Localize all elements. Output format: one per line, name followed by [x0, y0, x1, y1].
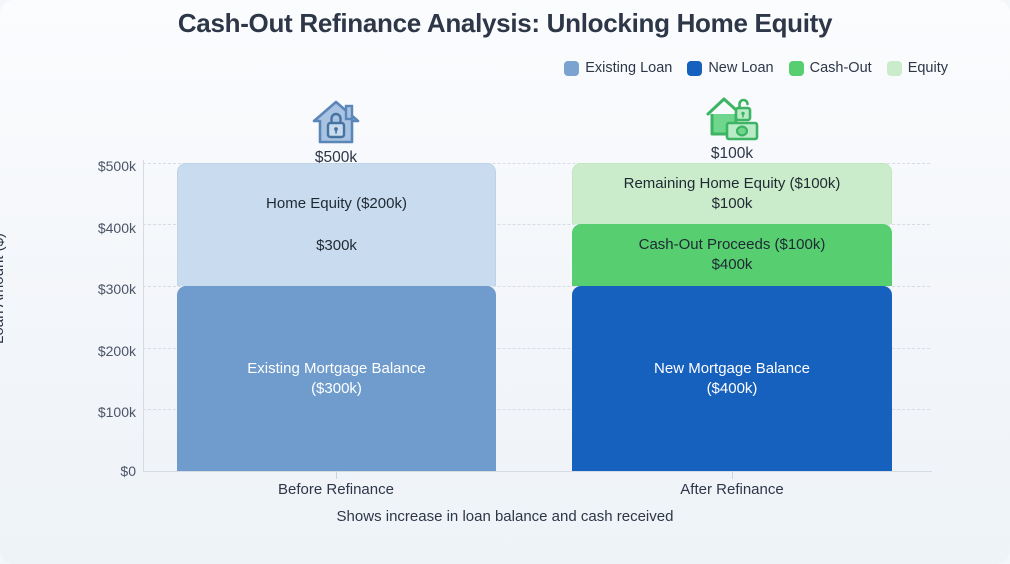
segment-existing-mortgage-balance-label: Existing Mortgage Balance($300k) — [247, 359, 425, 399]
after-refinance-header: $100k — [632, 92, 832, 163]
y-axis-title: Loan Amount ($) — [0, 233, 7, 344]
segment-cash-out-proceeds-label: Cash-Out Proceeds ($100k) — [639, 235, 826, 255]
house-lock-icon — [236, 96, 436, 148]
x-label-before-refinance: Before Refinance — [236, 481, 436, 498]
segment-home-equity-label: Home Equity ($200k) — [266, 194, 407, 214]
y-axis-tick-labels: $500k $400k $300k $200k $100k $0 — [58, 0, 136, 564]
segment-new-mortgage-balance[interactable]: New Mortgage Balance($400k) — [572, 286, 892, 471]
y-tick-200k: $200k — [66, 343, 136, 359]
y-tick-400k: $400k — [66, 220, 136, 236]
segment-existing-mortgage-balance[interactable]: Existing Mortgage Balance($300k) — [177, 286, 496, 471]
segment-remaining-home-equity-value: $100k — [712, 194, 753, 214]
segment-home-equity[interactable]: Home Equity ($200k) $300k — [177, 163, 496, 286]
chart-caption: Shows increase in loan balance and cash … — [0, 508, 1010, 525]
segment-remaining-home-equity[interactable]: Remaining Home Equity ($100k) $100k — [572, 163, 892, 224]
house-unlock-money-icon — [632, 92, 832, 144]
segment-remaining-home-equity-label: Remaining Home Equity ($100k) — [624, 174, 841, 194]
segment-home-equity-value: $300k — [316, 236, 357, 256]
before-refinance-header: $500k — [236, 96, 436, 167]
y-tick-300k: $300k — [66, 281, 136, 297]
x-tick-after — [732, 471, 733, 479]
y-tick-500k: $500k — [66, 158, 136, 174]
y-tick-100k: $100k — [66, 404, 136, 420]
bar-before-refinance[interactable]: Home Equity ($200k) $300k Existing Mortg… — [177, 163, 496, 471]
segment-new-mortgage-balance-label: New Mortgage Balance($400k) — [654, 359, 810, 399]
chart-card: Cash-Out Refinance Analysis: Unlocking H… — [0, 0, 1010, 564]
segment-cash-out-proceeds[interactable]: Cash-Out Proceeds ($100k) $400k — [572, 224, 892, 286]
y-tick-0: $0 — [66, 463, 136, 479]
segment-cash-out-proceeds-value: $400k — [712, 255, 753, 275]
x-axis-line — [143, 471, 932, 472]
x-label-after-refinance: After Refinance — [632, 481, 832, 498]
bar-after-refinance[interactable]: Remaining Home Equity ($100k) $100k Cash… — [572, 163, 892, 471]
x-tick-before — [336, 471, 337, 479]
after-total-label: $100k — [632, 145, 832, 163]
